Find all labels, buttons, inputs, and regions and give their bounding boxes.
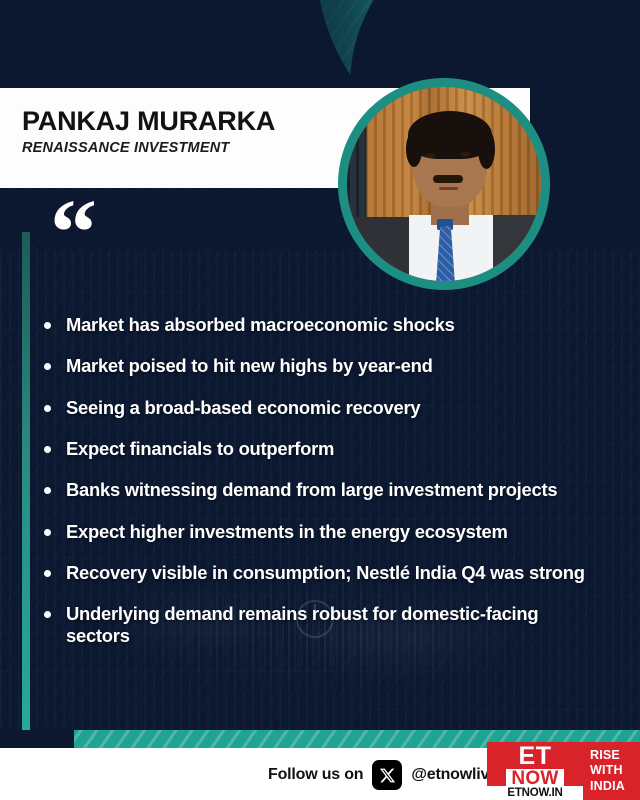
logo-tagline-line-3: INDIA [590, 779, 640, 794]
speaker-portrait-ring [338, 78, 550, 290]
social-handle[interactable]: @etnowlive [411, 766, 498, 784]
list-item: Seeing a broad-based economic recovery [40, 397, 600, 418]
logo-et-text: ET [519, 744, 552, 768]
portrait-hair-left [406, 131, 422, 167]
portrait-mouth [439, 187, 458, 190]
list-item: Underlying demand remains robust for dom… [40, 603, 600, 646]
logo-tagline-line-1: RISE [590, 748, 640, 763]
list-item: Expect financials to outperform [40, 438, 600, 459]
logo-tagline: RISE WITH INDIA [583, 742, 640, 800]
portrait-eye-left [425, 153, 436, 158]
logo-tagline-line-2: WITH [590, 763, 640, 778]
quote-bullet-list: Market has absorbed macroeconomic shocks… [40, 314, 600, 666]
portrait-hair-right [478, 129, 495, 169]
x-twitter-icon[interactable] [372, 760, 402, 790]
follow-us-label: Follow us on [268, 766, 363, 784]
etnow-logo-mark: ET NOW ETNOW.IN [487, 742, 583, 800]
list-item: Banks witnessing demand from large inves… [40, 479, 600, 500]
portrait-eye-right [460, 152, 471, 157]
list-item: Expect higher investments in the energy … [40, 521, 600, 542]
list-item: Market has absorbed macroeconomic shocks [40, 314, 600, 335]
etnow-logo: ET NOW ETNOW.IN RISE WITH INDIA [487, 742, 640, 800]
portrait-eyebrow-left [423, 146, 439, 149]
list-item: Recovery visible in consumption; Nestlé … [40, 562, 600, 583]
logo-website-url: ETNOW.IN [487, 786, 583, 800]
bottom-stripe-left-cut [0, 730, 74, 748]
portrait-eyebrow-right [457, 145, 473, 148]
quotation-mark-icon: “ [50, 186, 95, 280]
portrait-moustache [433, 175, 463, 183]
follow-us-row: Follow us on @etnowlive [268, 760, 498, 790]
speaker-portrait [347, 87, 541, 281]
left-teal-accent-bar [22, 232, 30, 730]
quote-card: PANKAJ MURARKA RENAISSANCE INVESTMENT “ … [0, 0, 640, 800]
list-item: Market poised to hit new highs by year-e… [40, 355, 600, 376]
